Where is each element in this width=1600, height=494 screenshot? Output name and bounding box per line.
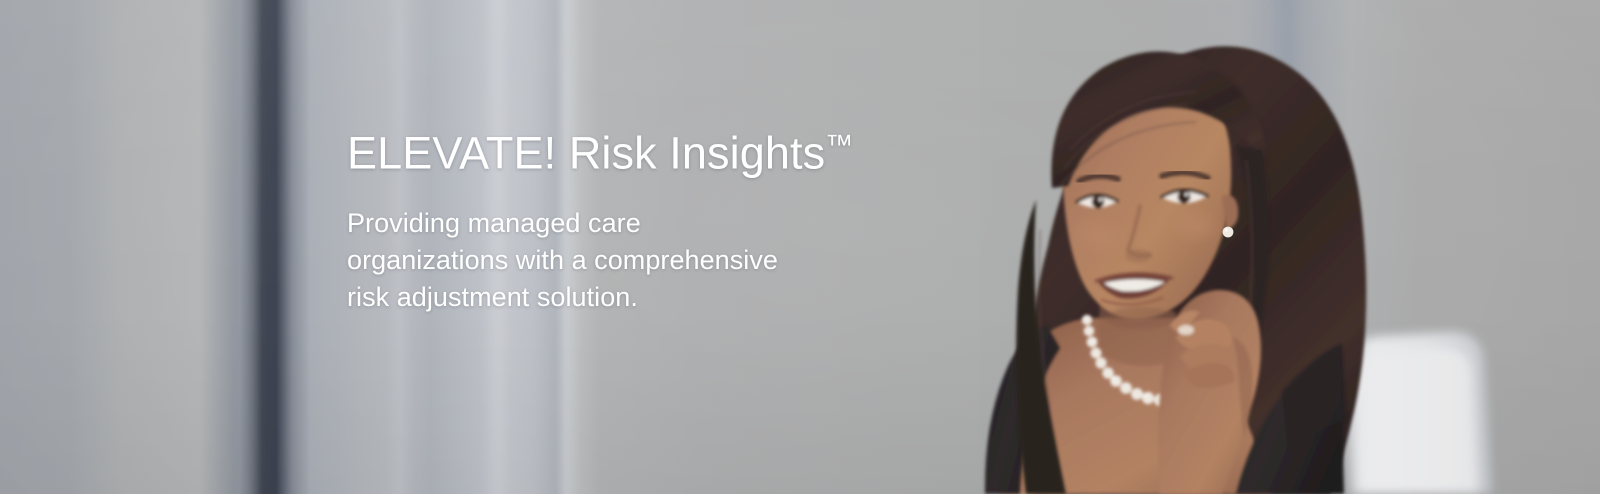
neck-and-shoulders — [1000, 300, 1272, 494]
hair-front-sweep — [1016, 51, 1269, 494]
black-top — [985, 324, 1346, 494]
page-title: ELEVATE! Risk Insights™ — [347, 118, 907, 181]
mullion-highlight-right — [286, 0, 298, 494]
hair — [1028, 46, 1366, 494]
subheading-line-1: Providing managed care — [347, 205, 907, 242]
window-seam-5 — [1272, 0, 1298, 494]
pearl-necklace — [1082, 315, 1236, 406]
face — [1062, 68, 1239, 329]
trademark-icon: ™ — [825, 129, 853, 160]
hand — [1158, 290, 1261, 494]
subheading-line-3: risk adjustment solution. — [347, 279, 907, 316]
hero-text-block: ELEVATE! Risk Insights™ Providing manage… — [347, 118, 907, 316]
chair — [1345, 332, 1492, 494]
headline-text: ELEVATE! Risk Insights — [347, 128, 825, 179]
mullion-highlight-left — [246, 0, 256, 494]
hero-subheading: Providing managed care organizations wit… — [347, 205, 907, 316]
subheading-line-2: organizations with a comprehensive — [347, 242, 907, 279]
hero-banner: ELEVATE! Risk Insights™ Providing manage… — [0, 0, 1600, 494]
